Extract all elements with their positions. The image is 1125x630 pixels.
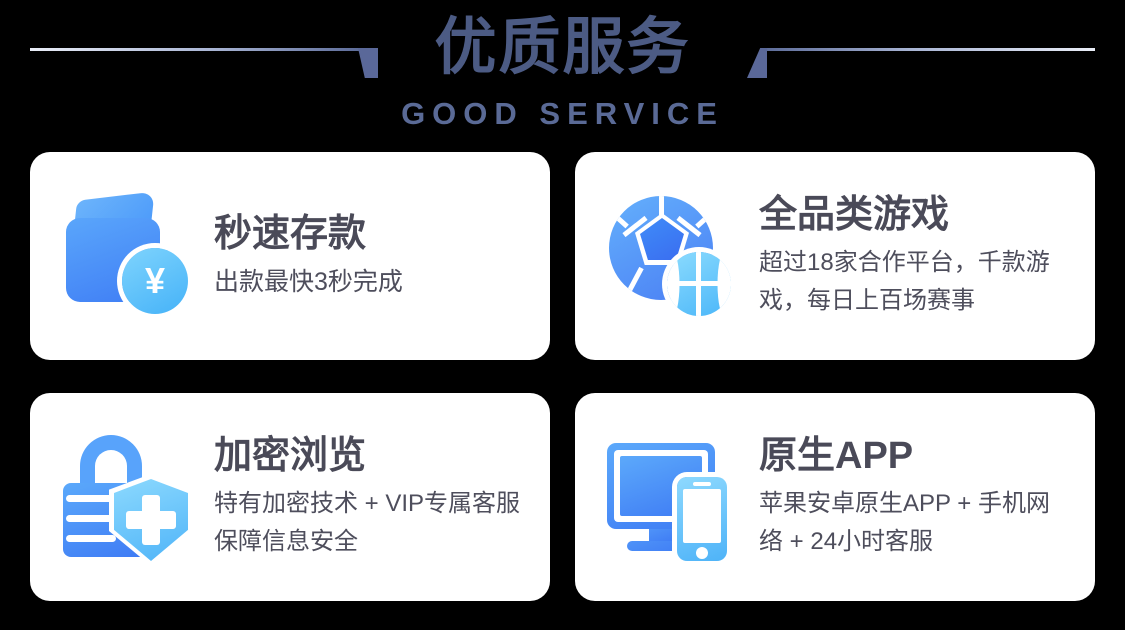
feature-card-games[interactable]: 全品类游戏 超过18家合作平台，千款游戏，每日上百场赛事: [575, 152, 1095, 360]
card-text-block: 秒速存款 出款最快3秒完成: [214, 211, 524, 301]
phone-speaker: [693, 482, 711, 486]
feature-card-native-app[interactable]: 原生APP 苹果安卓原生APP + 手机网络 + 24小时客服: [575, 393, 1095, 601]
card-text-block: 全品类游戏 超过18家合作平台，千款游戏，每日上百场赛事: [759, 192, 1069, 320]
card-title: 全品类游戏: [759, 192, 1069, 238]
card-description: 苹果安卓原生APP + 手机网络 + 24小时客服: [759, 485, 1069, 561]
card-text-block: 加密浏览 特有加密技术 + VIP专属客服保障信息安全: [214, 433, 524, 561]
page-subtitle: GOOD SERVICE: [0, 96, 1125, 132]
page-header: 优质服务 GOOD SERVICE: [0, 0, 1125, 140]
soccer-basketball-icon: [605, 190, 737, 322]
card-description: 特有加密技术 + VIP专属客服保障信息安全: [214, 485, 524, 561]
lock-shield-icon: [60, 431, 192, 563]
phone-screen: [683, 489, 721, 543]
card-title: 原生APP: [759, 433, 1069, 479]
card-title: 秒速存款: [214, 211, 524, 257]
card-title: 加密浏览: [214, 433, 524, 479]
feature-card-grid: ¥ 秒速存款 出款最快3秒完成: [30, 152, 1095, 602]
page-title: 优质服务: [0, 12, 1125, 84]
yen-coin-icon: ¥: [122, 248, 188, 314]
card-text-block: 原生APP 苹果安卓原生APP + 手机网络 + 24小时客服: [759, 433, 1069, 561]
phone-home-button: [696, 547, 708, 559]
basketball-icon: [667, 252, 731, 316]
feature-card-deposit[interactable]: ¥ 秒速存款 出款最快3秒完成: [30, 152, 550, 360]
card-description: 超过18家合作平台，千款游戏，每日上百场赛事: [759, 244, 1069, 320]
yen-symbol: ¥: [145, 263, 165, 299]
plus-icon-horizontal: [126, 511, 176, 529]
monitor-phone-icon: [605, 431, 737, 563]
card-description: 出款最快3秒完成: [214, 263, 524, 301]
feature-card-encryption[interactable]: 加密浏览 特有加密技术 + VIP专属客服保障信息安全: [30, 393, 550, 601]
wallet-coin-icon: ¥: [60, 190, 192, 322]
